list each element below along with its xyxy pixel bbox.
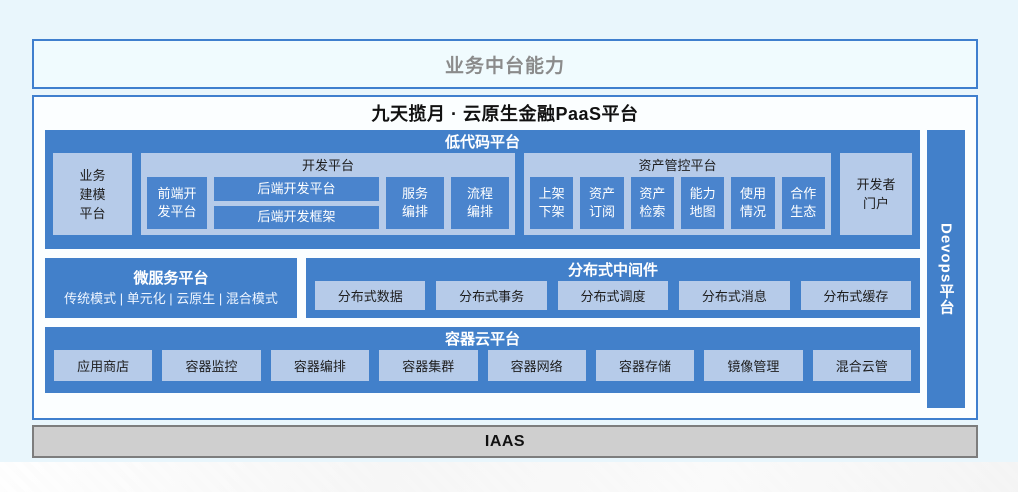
frontend-dev-platform-card[interactable]: 前端开 发平台 bbox=[147, 177, 207, 229]
microservice-platform-title: 微服务平台 bbox=[133, 268, 208, 289]
platform-content-column: 低代码平台 业务 建模 平台 开发平台 前端开 发平 bbox=[45, 130, 920, 408]
backend-dev-stack: 后端开发平台 后端开发框架 bbox=[214, 177, 379, 229]
process-orchestration-line-2: 编排 bbox=[467, 203, 493, 221]
distributed-middleware-title: 分布式中间件 bbox=[315, 258, 911, 281]
diagram-canvas: 业务中台能力 九天揽月 · 云原生金融PaaS平台 低代码平台 业务 建模 平台… bbox=[0, 0, 1018, 492]
asset-item-search-line-1: 资产 bbox=[639, 185, 665, 203]
background-top-wash bbox=[0, 0, 1018, 38]
process-orchestration-card[interactable]: 流程 编排 bbox=[451, 177, 509, 229]
microservice-platform-modes: 传统模式 | 单元化 | 云原生 | 混合模式 bbox=[64, 289, 278, 309]
business-middle-platform-banner: 业务中台能力 bbox=[32, 39, 978, 89]
container-cloud-items: 应用商店 容器监控 容器编排 容器集群 容器网络 容器存储 镜像管理 混合云管 bbox=[54, 350, 911, 381]
asset-item-usage-line-1: 使用 bbox=[740, 185, 766, 203]
asset-management-platform-title: 资产管控平台 bbox=[530, 156, 825, 175]
frontend-dev-line-1: 前端开 bbox=[157, 185, 196, 203]
backend-dev-framework-card[interactable]: 后端开发框架 bbox=[214, 206, 379, 230]
container-item-cluster[interactable]: 容器集群 bbox=[379, 350, 477, 381]
devops-platform-label: Devops平台 bbox=[936, 223, 957, 315]
lowcode-platform-band: 低代码平台 业务 建模 平台 开发平台 前端开 发平 bbox=[45, 130, 920, 249]
asset-item-capability-map-line-2: 地图 bbox=[690, 203, 716, 221]
iaas-layer: IAAS bbox=[32, 425, 978, 458]
developer-portal-line-1: 开发者 bbox=[856, 175, 895, 194]
asset-item-subscription-line-1: 资产 bbox=[589, 185, 615, 203]
asset-item-listing-line-1: 上架 bbox=[539, 185, 565, 203]
container-item-app-store[interactable]: 应用商店 bbox=[54, 350, 152, 381]
service-orchestration-line-2: 编排 bbox=[402, 203, 428, 221]
development-platform-items: 前端开 发平台 后端开发平台 后端开发框架 服务 编排 bbox=[147, 177, 509, 229]
distributed-middleware-band: 分布式中间件 分布式数据 分布式事务 分布式调度 分布式消息 分布式缓存 bbox=[306, 258, 920, 318]
page-title: 九天揽月 · 云原生金融PaaS平台 bbox=[34, 100, 976, 126]
business-modeling-platform-card[interactable]: 业务 建模 平台 bbox=[53, 153, 132, 235]
service-orchestration-line-1: 服务 bbox=[402, 185, 428, 203]
container-cloud-platform-band: 容器云平台 应用商店 容器监控 容器编排 容器集群 容器网络 容器存储 镜像管理… bbox=[45, 327, 920, 393]
development-platform-panel: 开发平台 前端开 发平台 后端开发平台 后端开发框架 服务 bbox=[141, 153, 515, 235]
service-orchestration-card[interactable]: 服务 编排 bbox=[386, 177, 444, 229]
frontend-dev-line-2: 发平台 bbox=[157, 203, 196, 221]
asset-item-capability-map-line-1: 能力 bbox=[690, 185, 716, 203]
lowcode-platform-body: 业务 建模 平台 开发平台 前端开 发平台 后端 bbox=[53, 153, 912, 235]
asset-item-usage[interactable]: 使用 情况 bbox=[731, 177, 774, 229]
lowcode-platform-title: 低代码平台 bbox=[53, 130, 912, 153]
container-item-storage[interactable]: 容器存储 bbox=[596, 350, 694, 381]
asset-item-ecosystem[interactable]: 合作 生态 bbox=[782, 177, 825, 229]
middleware-item-messaging[interactable]: 分布式消息 bbox=[679, 281, 789, 310]
middleware-item-cache[interactable]: 分布式缓存 bbox=[801, 281, 911, 310]
asset-item-listing-line-2: 下架 bbox=[539, 203, 565, 221]
asset-item-subscription[interactable]: 资产 订阅 bbox=[580, 177, 623, 229]
business-modeling-line-2: 建模 bbox=[79, 185, 105, 204]
asset-management-items: 上架 下架 资产 订阅 资产 检索 bbox=[530, 177, 825, 229]
asset-item-capability-map[interactable]: 能力 地图 bbox=[681, 177, 724, 229]
microservice-platform-band: 微服务平台 传统模式 | 单元化 | 云原生 | 混合模式 bbox=[45, 258, 297, 318]
container-cloud-platform-title: 容器云平台 bbox=[54, 327, 911, 350]
business-modeling-line-3: 平台 bbox=[79, 204, 105, 223]
paas-platform-frame: 九天揽月 · 云原生金融PaaS平台 低代码平台 业务 建模 平台 开发平台 bbox=[32, 95, 978, 420]
container-item-orchestration[interactable]: 容器编排 bbox=[271, 350, 369, 381]
asset-item-listing[interactable]: 上架 下架 bbox=[530, 177, 573, 229]
asset-management-platform-panel: 资产管控平台 上架 下架 资产 订阅 资产 bbox=[524, 153, 831, 235]
devops-platform-strip[interactable]: Devops平台 bbox=[927, 130, 965, 408]
container-item-hybrid-cloud[interactable]: 混合云管 bbox=[813, 350, 911, 381]
backend-dev-platform-card[interactable]: 后端开发平台 bbox=[214, 177, 379, 201]
banner-title: 业务中台能力 bbox=[445, 51, 565, 78]
process-orchestration-line-1: 流程 bbox=[467, 185, 493, 203]
asset-item-usage-line-2: 情况 bbox=[740, 203, 766, 221]
asset-item-search[interactable]: 资产 检索 bbox=[631, 177, 674, 229]
container-item-image-management[interactable]: 镜像管理 bbox=[704, 350, 802, 381]
middleware-item-data[interactable]: 分布式数据 bbox=[315, 281, 425, 310]
middleware-item-scheduling[interactable]: 分布式调度 bbox=[558, 281, 668, 310]
container-item-network[interactable]: 容器网络 bbox=[488, 350, 586, 381]
asset-item-ecosystem-line-2: 生态 bbox=[790, 203, 816, 221]
asset-item-subscription-line-2: 订阅 bbox=[589, 203, 615, 221]
asset-item-search-line-2: 检索 bbox=[639, 203, 665, 221]
business-modeling-line-1: 业务 bbox=[79, 166, 105, 185]
developer-portal-card[interactable]: 开发者 门户 bbox=[840, 153, 912, 235]
container-item-monitoring[interactable]: 容器监控 bbox=[162, 350, 260, 381]
middleware-item-transaction[interactable]: 分布式事务 bbox=[436, 281, 546, 310]
iaas-label: IAAS bbox=[485, 433, 525, 451]
development-platform-title: 开发平台 bbox=[147, 156, 509, 175]
microservice-middleware-row: 微服务平台 传统模式 | 单元化 | 云原生 | 混合模式 分布式中间件 分布式… bbox=[45, 258, 920, 318]
distributed-middleware-items: 分布式数据 分布式事务 分布式调度 分布式消息 分布式缓存 bbox=[315, 281, 911, 310]
background-bottom-texture bbox=[0, 462, 1018, 492]
developer-portal-line-2: 门户 bbox=[863, 194, 889, 213]
asset-item-ecosystem-line-1: 合作 bbox=[790, 185, 816, 203]
